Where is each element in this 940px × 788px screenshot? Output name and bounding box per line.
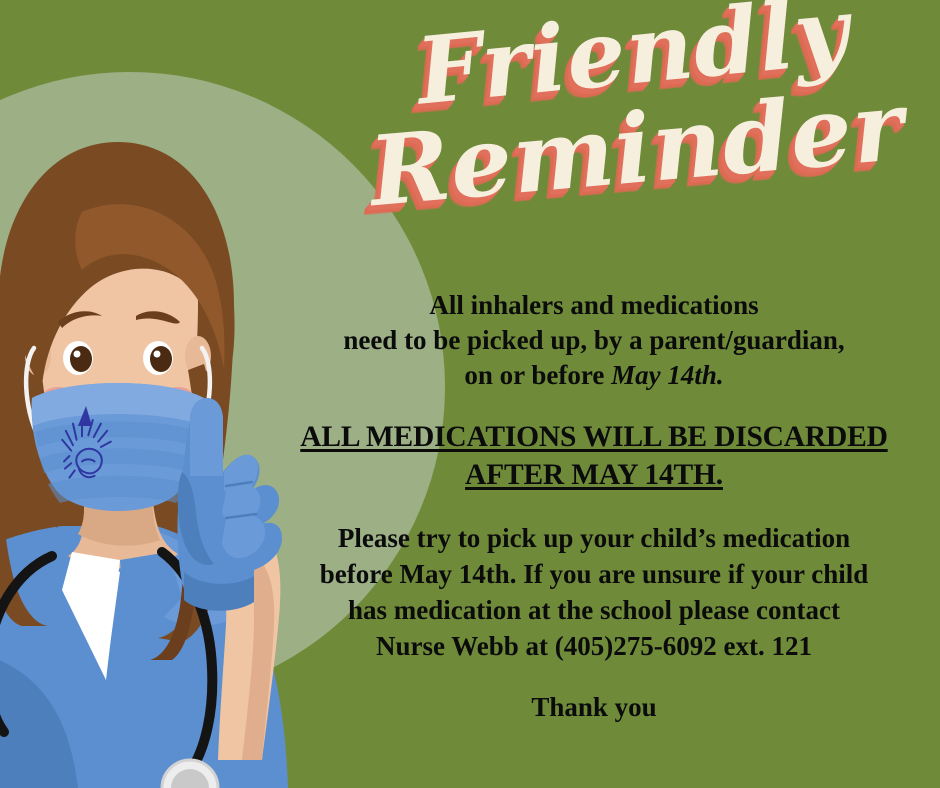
poster-title: Friendly Reminder [330, 6, 930, 196]
intro-line-2: need to be picked up, by a parent/guardi… [244, 323, 940, 358]
eye-left [63, 341, 93, 375]
spacer-3 [244, 664, 940, 690]
contact-line-3: has medication at the school please cont… [244, 593, 940, 629]
poster-body-copy: All inhalers and medications need to be … [244, 288, 940, 726]
contact-paragraph: Please try to pick up your child’s medic… [244, 521, 940, 665]
closing-thank-you: Thank you [244, 690, 940, 725]
spacer-1 [244, 393, 940, 419]
contact-line-1: Please try to pick up your child’s medic… [244, 521, 940, 557]
contact-line-2: before May 14th. If you are unsure if yo… [244, 557, 940, 593]
glove-finger-index [190, 398, 223, 476]
discard-line-1: ALL MEDICATIONS WILL BE DISCARDED [244, 419, 940, 457]
spacer-2 [244, 495, 940, 521]
eye-right [143, 341, 173, 375]
intro-line-3: on or before May 14th. [244, 358, 940, 393]
poster-canvas: Friendly Reminder All inhalers and medic… [0, 0, 940, 788]
title-line-friendly: Friendly [333, 0, 933, 124]
intro-paragraph: All inhalers and medications need to be … [244, 288, 940, 393]
discard-line-2: AFTER MAY 14TH. [465, 459, 723, 491]
title-line-reminder: Reminder [341, 77, 933, 222]
deadline-date: May 14th. [611, 360, 724, 390]
intro-line-1: All inhalers and medications [244, 288, 940, 323]
discard-notice: ALL MEDICATIONS WILL BE DISCARDED AFTER … [244, 419, 940, 495]
contact-line-4-nurse-phone: Nurse Webb at (405)275-6092 ext. 121 [244, 629, 940, 665]
intro-line-3-prefix: on or before [464, 360, 611, 390]
